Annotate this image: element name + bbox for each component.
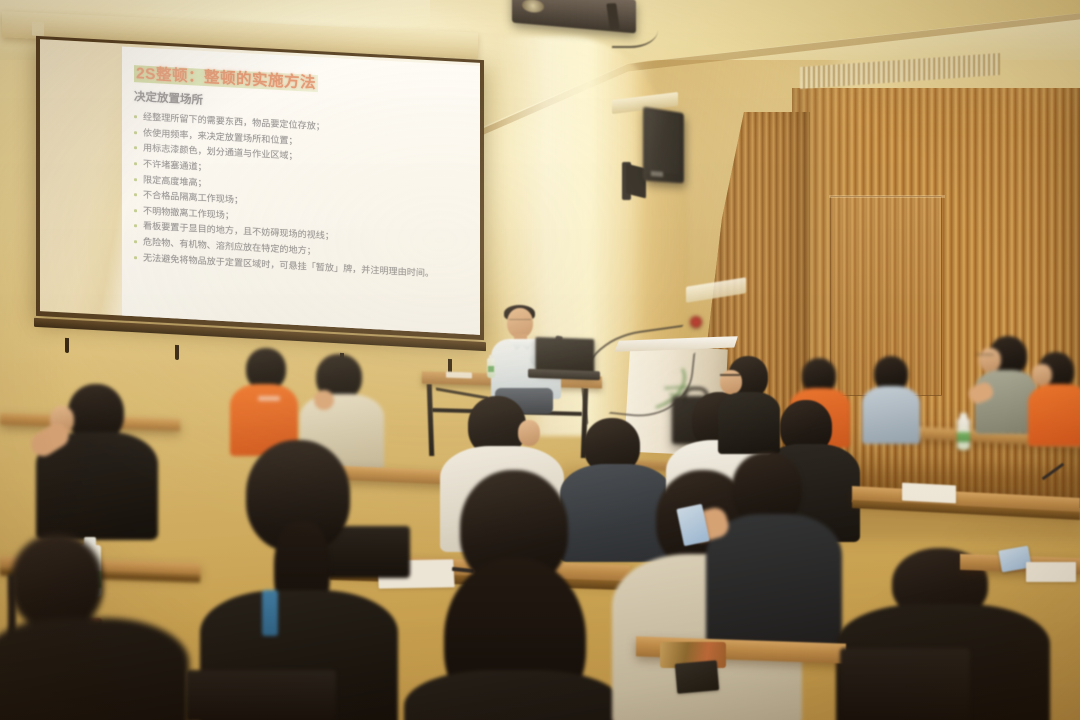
projector-lens bbox=[522, 0, 544, 13]
chair-back-front-row bbox=[840, 648, 970, 720]
water-bottle-front-table bbox=[487, 358, 495, 378]
audience-member-back-blue bbox=[862, 356, 918, 442]
water-bottle bbox=[957, 418, 970, 450]
presenter-glasses bbox=[509, 319, 531, 324]
projected-slide: 2S整顿：整顿的实施方法 决定放置场所 经整理所留下的需要东西，物品要定位存放；… bbox=[122, 47, 480, 335]
face bbox=[518, 420, 540, 446]
lanyard bbox=[262, 590, 278, 636]
notepad bbox=[1026, 562, 1076, 582]
slide-bullet-list: 经整理所留下的需要东西，物品要定位存放； 依使用频率，来决定放置场所和位置； 用… bbox=[134, 109, 472, 282]
red-indicator-light bbox=[690, 316, 702, 328]
projection-screen-surface: 2S整顿：整顿的实施方法 决定放置场所 经整理所留下的需要东西，物品要定位存放；… bbox=[40, 39, 480, 335]
torso bbox=[862, 386, 920, 444]
torso bbox=[0, 618, 189, 720]
smartphone-dark[interactable] bbox=[675, 660, 719, 694]
speaker-badge bbox=[651, 171, 663, 177]
screen-hook bbox=[175, 345, 179, 360]
photograph-scene: 2S整顿：整顿的实施方法 决定放置场所 经整理所留下的需要东西，物品要定位存放；… bbox=[0, 0, 1080, 720]
chair-back-front-row bbox=[186, 670, 336, 720]
torso bbox=[706, 514, 842, 654]
slide-title-text: 2S整顿：整顿的实施方法 bbox=[134, 65, 318, 92]
audience-member-foreground-left-dark bbox=[1, 468, 191, 720]
audience-member-foreground-longhair-center bbox=[404, 470, 616, 720]
face bbox=[1032, 364, 1052, 386]
glasses-icon bbox=[976, 354, 994, 358]
head bbox=[11, 534, 103, 630]
hand bbox=[314, 390, 334, 410]
projection-screen-frame: 2S整顿：整顿的实施方法 决定放置场所 经整理所留下的需要东西，物品要定位存放；… bbox=[36, 36, 484, 340]
bottle-cap bbox=[960, 413, 967, 419]
wall-speaker bbox=[643, 107, 684, 184]
torso bbox=[1028, 384, 1080, 446]
audience-member-orange-right bbox=[1032, 352, 1080, 444]
torso bbox=[718, 392, 780, 454]
audience-member-orange-left bbox=[230, 348, 296, 452]
papers-on-front-table bbox=[446, 372, 472, 379]
audience-member-with-phone bbox=[706, 452, 836, 652]
face bbox=[979, 348, 1001, 372]
audience-member-with-glasses-mid bbox=[718, 356, 778, 452]
speaker-grille bbox=[648, 111, 680, 173]
glasses-icon bbox=[720, 374, 740, 378]
screen-hook bbox=[65, 338, 69, 353]
bottle-label bbox=[957, 432, 970, 442]
torso bbox=[404, 670, 624, 720]
notepad bbox=[902, 483, 956, 504]
shirt-logo bbox=[258, 396, 280, 401]
